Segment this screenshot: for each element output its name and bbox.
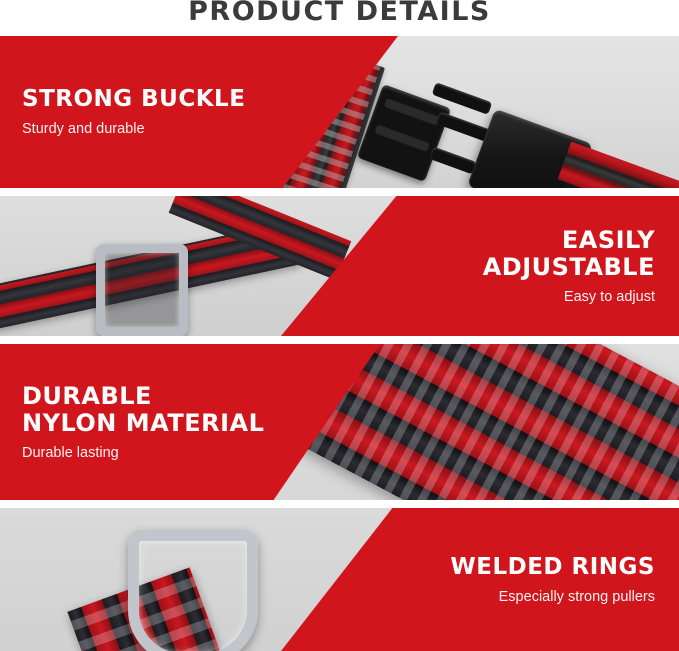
- row-divider-2: [0, 336, 679, 344]
- feature-title: WELDED RINGS: [450, 554, 655, 581]
- page-title: PRODUCT DETAILS: [188, 0, 491, 27]
- feature-subtitle: Especially strong pullers: [499, 588, 655, 606]
- product-details-infographic: PRODUCT DETAILS STRONG BUCKLE Sturdy and…: [0, 0, 679, 651]
- feature-title: EASILY ADJUSTABLE: [483, 227, 655, 281]
- feature-row-easily-adjustable: EASILY ADJUSTABLE Easy to adjust: [0, 196, 679, 336]
- slider-adjuster-ring: [96, 244, 188, 336]
- feature-title: STRONG BUCKLE: [22, 86, 245, 113]
- feature-subtitle: Easy to adjust: [564, 288, 655, 306]
- feature-row-welded-rings: WELDED RINGS Especially strong pullers: [0, 508, 679, 651]
- row-divider-3: [0, 500, 679, 508]
- welded-d-ring: [128, 530, 258, 651]
- feature-subtitle: Sturdy and durable: [22, 120, 145, 138]
- strap-webbing-right: [558, 142, 679, 188]
- buckle-prong-bottom: [429, 147, 477, 175]
- row-divider-1: [0, 188, 679, 196]
- feature-row-durable-nylon-material: DURABLE NYLON MATERIAL Durable lasting: [0, 344, 679, 500]
- feature-row-strong-buckle: STRONG BUCKLE Sturdy and durable: [0, 36, 679, 188]
- header: PRODUCT DETAILS: [0, 0, 679, 34]
- feature-subtitle: Durable lasting: [22, 444, 119, 462]
- feature-title: DURABLE NYLON MATERIAL: [22, 383, 264, 437]
